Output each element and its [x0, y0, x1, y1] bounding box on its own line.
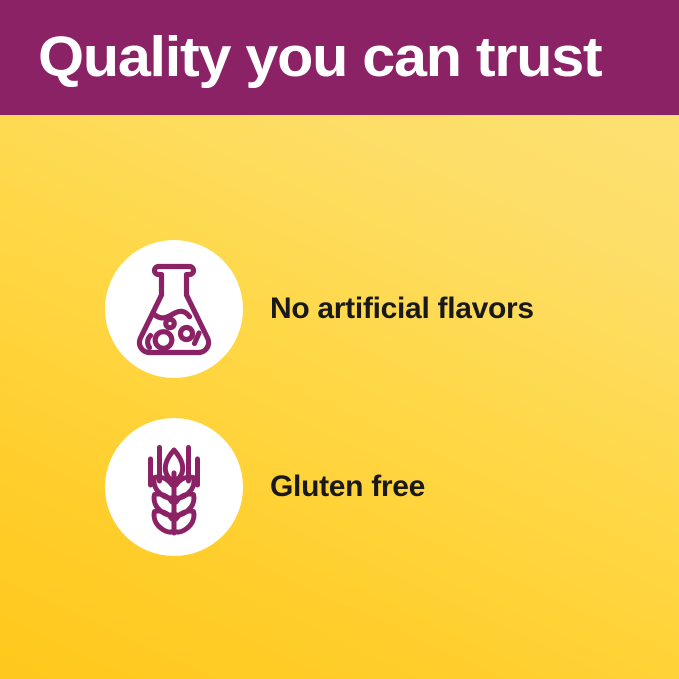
wheat-icon-badge [105, 418, 243, 556]
flask-icon [132, 261, 216, 357]
feature-list: No artificial flavors [0, 115, 679, 679]
wheat-icon [137, 437, 211, 537]
feature-label: Gluten free [270, 472, 425, 502]
header-band: Quality you can trust [0, 0, 679, 115]
feature-item-no-artificial-flavors: No artificial flavors [0, 240, 679, 378]
feature-label: No artificial flavors [270, 294, 534, 324]
feature-item-gluten-free: Gluten free [0, 418, 679, 556]
page-title: Quality you can trust [38, 29, 601, 86]
quality-badge-panel: Quality you can trust [0, 0, 679, 679]
flask-icon-badge [105, 240, 243, 378]
